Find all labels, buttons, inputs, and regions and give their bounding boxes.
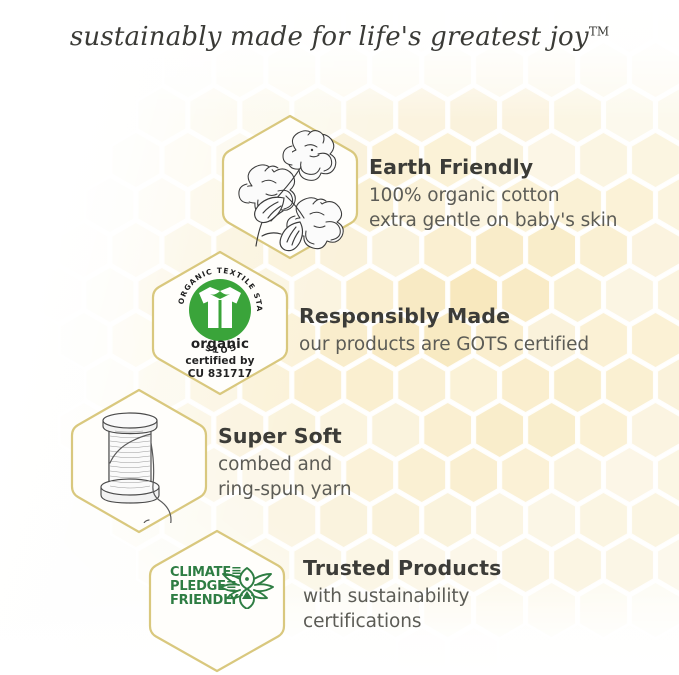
feature-text-responsibly-made: Responsibly Made our products are GOTS c… xyxy=(299,304,589,358)
climate-pledge-friendly-wordmark: CLIMATE≣ PLEDGE≣ FRIENDLY xyxy=(170,566,242,608)
sustainability-infographic: sustainably made for life's greatest joy… xyxy=(0,0,679,675)
cpf-line-2-text: PLEDGE xyxy=(170,579,226,594)
feature-title: Responsibly Made xyxy=(299,304,589,328)
feature-line: combed and xyxy=(218,453,352,478)
thread-spool-icon xyxy=(83,403,203,523)
feature-line: extra gentle on baby's skin xyxy=(369,209,617,234)
cpf-line-1-text: CLIMATE xyxy=(170,565,231,580)
feature-line: our products are GOTS certified xyxy=(299,333,589,358)
feature-title: Super Soft xyxy=(218,424,352,448)
feature-title: Trusted Products xyxy=(303,556,501,580)
cpf-line-3: FRIENDLY xyxy=(170,594,242,608)
feature-line: 100% organic cotton xyxy=(369,184,617,209)
feature-text-earth-friendly: Earth Friendly 100% organic cotton extra… xyxy=(369,155,617,234)
feature-line: ring-spun yarn xyxy=(218,478,352,503)
headline-text: sustainably made for life's greatest joy xyxy=(70,22,589,52)
feature-title: Earth Friendly xyxy=(369,155,617,179)
gots-certified-by-line: certified by xyxy=(145,355,295,368)
cotton-boll-icon xyxy=(222,126,358,254)
trademark-symbol: TM xyxy=(589,24,609,38)
cpf-line-2: PLEDGE≣ xyxy=(170,580,242,594)
feature-text-trusted-products: Trusted Products with sustainability cer… xyxy=(303,556,501,635)
gots-certified-by: certified by CU 831717 xyxy=(145,355,295,381)
feature-text-super-soft: Super Soft combed and ring-spun yarn xyxy=(218,424,352,503)
feature-line: with sustainability xyxy=(303,585,501,610)
cpf-line-1: CLIMATE≣ xyxy=(170,566,242,580)
headline: sustainably made for life's greatest joy… xyxy=(0,22,679,52)
feature-line: certifications xyxy=(303,610,501,635)
gots-organic-label: organic xyxy=(145,336,295,352)
gots-badge-text: organic certified by CU 831717 xyxy=(145,336,295,381)
gots-license-number: CU 831717 xyxy=(145,368,295,381)
